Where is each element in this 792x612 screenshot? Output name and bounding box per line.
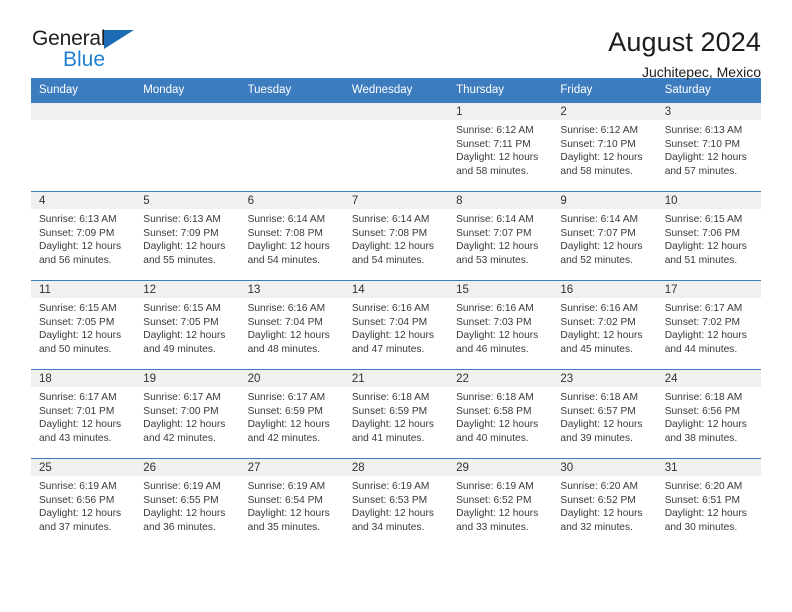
sunset-text: Sunset: 6:59 PM (248, 405, 338, 419)
day-details: Sunrise: 6:14 AMSunset: 7:07 PMDaylight:… (448, 209, 552, 267)
page-header: General Blue August 2024 Juchitepec, Mex… (0, 0, 792, 78)
calendar-day-cell[interactable]: 4Sunrise: 6:13 AMSunset: 7:09 PMDaylight… (31, 192, 135, 281)
day-details: Sunrise: 6:19 AMSunset: 6:54 PMDaylight:… (240, 476, 344, 534)
sunset-text: Sunset: 6:55 PM (143, 494, 233, 508)
calendar-day-cell[interactable]: 3Sunrise: 6:13 AMSunset: 7:10 PMDaylight… (657, 103, 761, 192)
sunrise-text: Sunrise: 6:20 AM (665, 480, 755, 494)
calendar-day-cell[interactable]: 2Sunrise: 6:12 AMSunset: 7:10 PMDaylight… (552, 103, 656, 192)
calendar-day-cell[interactable]: 8Sunrise: 6:14 AMSunset: 7:07 PMDaylight… (448, 192, 552, 281)
sunset-text: Sunset: 7:03 PM (456, 316, 546, 330)
sunrise-text: Sunrise: 6:19 AM (352, 480, 442, 494)
page-title: August 2024 (608, 26, 761, 58)
calendar-empty-cell (240, 103, 344, 192)
daylight-text-line2: and 35 minutes. (248, 521, 338, 535)
daylight-text-line1: Daylight: 12 hours (665, 151, 755, 165)
daylight-text-line1: Daylight: 12 hours (248, 507, 338, 521)
daylight-text-line2: and 43 minutes. (39, 432, 129, 446)
daylight-text-line1: Daylight: 12 hours (456, 240, 546, 254)
day-number: 12 (135, 281, 239, 298)
day-number: 1 (448, 103, 552, 120)
day-details: Sunrise: 6:15 AMSunset: 7:06 PMDaylight:… (657, 209, 761, 267)
daylight-text-line1: Daylight: 12 hours (352, 418, 442, 432)
calendar-day-cell[interactable]: 20Sunrise: 6:17 AMSunset: 6:59 PMDayligh… (240, 370, 344, 459)
calendar-day-cell[interactable]: 5Sunrise: 6:13 AMSunset: 7:09 PMDaylight… (135, 192, 239, 281)
calendar-week-row: 11Sunrise: 6:15 AMSunset: 7:05 PMDayligh… (31, 281, 761, 370)
daylight-text-line1: Daylight: 12 hours (665, 329, 755, 343)
day-number: 23 (552, 370, 656, 387)
calendar-day-cell[interactable]: 6Sunrise: 6:14 AMSunset: 7:08 PMDaylight… (240, 192, 344, 281)
daylight-text-line1: Daylight: 12 hours (665, 418, 755, 432)
calendar-day-cell[interactable]: 26Sunrise: 6:19 AMSunset: 6:55 PMDayligh… (135, 459, 239, 548)
daylight-text-line1: Daylight: 12 hours (248, 240, 338, 254)
calendar-day-cell[interactable]: 21Sunrise: 6:18 AMSunset: 6:59 PMDayligh… (344, 370, 448, 459)
sunrise-text: Sunrise: 6:17 AM (665, 302, 755, 316)
day-details: Sunrise: 6:16 AMSunset: 7:02 PMDaylight:… (552, 298, 656, 356)
day-number: 6 (240, 192, 344, 209)
daylight-text-line2: and 34 minutes. (352, 521, 442, 535)
day-number: 19 (135, 370, 239, 387)
daylight-text-line1: Daylight: 12 hours (456, 151, 546, 165)
daylight-text-line2: and 58 minutes. (456, 165, 546, 179)
sunset-text: Sunset: 7:02 PM (560, 316, 650, 330)
day-details: Sunrise: 6:18 AMSunset: 6:57 PMDaylight:… (552, 387, 656, 445)
day-number: 18 (31, 370, 135, 387)
daylight-text-line2: and 50 minutes. (39, 343, 129, 357)
sunrise-text: Sunrise: 6:18 AM (352, 391, 442, 405)
daylight-text-line2: and 47 minutes. (352, 343, 442, 357)
daylight-text-line2: and 57 minutes. (665, 165, 755, 179)
triangle-icon (104, 30, 134, 49)
sunset-text: Sunset: 7:01 PM (39, 405, 129, 419)
title-block: August 2024 Juchitepec, Mexico (608, 26, 761, 82)
daylight-text-line2: and 42 minutes. (248, 432, 338, 446)
daylight-text-line1: Daylight: 12 hours (456, 329, 546, 343)
day-number: 29 (448, 459, 552, 476)
sunset-text: Sunset: 6:57 PM (560, 405, 650, 419)
sunset-text: Sunset: 6:53 PM (352, 494, 442, 508)
daylight-text-line2: and 30 minutes. (665, 521, 755, 535)
day-details: Sunrise: 6:20 AMSunset: 6:52 PMDaylight:… (552, 476, 656, 534)
daylight-text-line2: and 54 minutes. (248, 254, 338, 268)
daylight-text-line1: Daylight: 12 hours (39, 507, 129, 521)
daylight-text-line1: Daylight: 12 hours (143, 329, 233, 343)
sunrise-text: Sunrise: 6:16 AM (456, 302, 546, 316)
day-details: Sunrise: 6:13 AMSunset: 7:09 PMDaylight:… (31, 209, 135, 267)
calendar-day-cell[interactable]: 27Sunrise: 6:19 AMSunset: 6:54 PMDayligh… (240, 459, 344, 548)
brand-name-blue: Blue (63, 49, 105, 70)
sunrise-text: Sunrise: 6:18 AM (665, 391, 755, 405)
sunset-text: Sunset: 6:58 PM (456, 405, 546, 419)
day-number: 30 (552, 459, 656, 476)
calendar-day-cell[interactable]: 10Sunrise: 6:15 AMSunset: 7:06 PMDayligh… (657, 192, 761, 281)
day-details: Sunrise: 6:20 AMSunset: 6:51 PMDaylight:… (657, 476, 761, 534)
day-number: 8 (448, 192, 552, 209)
sunrise-text: Sunrise: 6:13 AM (143, 213, 233, 227)
calendar-empty-cell (135, 103, 239, 192)
sunrise-text: Sunrise: 6:18 AM (456, 391, 546, 405)
sunrise-text: Sunrise: 6:16 AM (248, 302, 338, 316)
sunset-text: Sunset: 6:52 PM (456, 494, 546, 508)
sunrise-text: Sunrise: 6:12 AM (560, 124, 650, 138)
sunset-text: Sunset: 6:52 PM (560, 494, 650, 508)
sunset-text: Sunset: 7:07 PM (456, 227, 546, 241)
sunrise-text: Sunrise: 6:15 AM (665, 213, 755, 227)
sunset-text: Sunset: 7:09 PM (143, 227, 233, 241)
daylight-text-line2: and 55 minutes. (143, 254, 233, 268)
day-details: Sunrise: 6:13 AMSunset: 7:10 PMDaylight:… (657, 120, 761, 178)
calendar-day-cell[interactable]: 11Sunrise: 6:15 AMSunset: 7:05 PMDayligh… (31, 281, 135, 370)
daylight-text-line1: Daylight: 12 hours (352, 329, 442, 343)
sunset-text: Sunset: 7:05 PM (143, 316, 233, 330)
sunrise-text: Sunrise: 6:13 AM (39, 213, 129, 227)
day-number: 14 (344, 281, 448, 298)
daylight-text-line2: and 37 minutes. (39, 521, 129, 535)
sunrise-text: Sunrise: 6:14 AM (456, 213, 546, 227)
daylight-text-line2: and 56 minutes. (39, 254, 129, 268)
sunset-text: Sunset: 7:09 PM (39, 227, 129, 241)
weekday-header-thursday: Thursday (448, 78, 552, 103)
brand-name-general: General (32, 28, 105, 49)
daylight-text-line1: Daylight: 12 hours (39, 418, 129, 432)
sunset-text: Sunset: 6:56 PM (39, 494, 129, 508)
day-number: 7 (344, 192, 448, 209)
day-number: 2 (552, 103, 656, 120)
daylight-text-line2: and 45 minutes. (560, 343, 650, 357)
calendar-empty-cell (31, 103, 135, 192)
day-number: 27 (240, 459, 344, 476)
daylight-text-line2: and 54 minutes. (352, 254, 442, 268)
sunset-text: Sunset: 7:10 PM (665, 138, 755, 152)
sunrise-text: Sunrise: 6:16 AM (560, 302, 650, 316)
daylight-text-line2: and 38 minutes. (665, 432, 755, 446)
sunrise-text: Sunrise: 6:15 AM (143, 302, 233, 316)
day-number: 17 (657, 281, 761, 298)
calendar-day-cell[interactable]: 14Sunrise: 6:16 AMSunset: 7:04 PMDayligh… (344, 281, 448, 370)
brand-logo[interactable]: General Blue (31, 26, 151, 74)
sunrise-text: Sunrise: 6:18 AM (560, 391, 650, 405)
day-number: 5 (135, 192, 239, 209)
sunset-text: Sunset: 6:51 PM (665, 494, 755, 508)
daylight-text-line1: Daylight: 12 hours (560, 507, 650, 521)
sunrise-text: Sunrise: 6:14 AM (560, 213, 650, 227)
sunrise-text: Sunrise: 6:19 AM (39, 480, 129, 494)
sunrise-text: Sunrise: 6:14 AM (248, 213, 338, 227)
daylight-text-line2: and 49 minutes. (143, 343, 233, 357)
day-number: 25 (31, 459, 135, 476)
day-details: Sunrise: 6:13 AMSunset: 7:09 PMDaylight:… (135, 209, 239, 267)
sunset-text: Sunset: 7:08 PM (352, 227, 442, 241)
daylight-text-line2: and 48 minutes. (248, 343, 338, 357)
daylight-text-line1: Daylight: 12 hours (352, 507, 442, 521)
daylight-text-line2: and 52 minutes. (560, 254, 650, 268)
calendar-day-cell[interactable]: 16Sunrise: 6:16 AMSunset: 7:02 PMDayligh… (552, 281, 656, 370)
sunrise-text: Sunrise: 6:17 AM (143, 391, 233, 405)
calendar-week-row: 18Sunrise: 6:17 AMSunset: 7:01 PMDayligh… (31, 370, 761, 459)
calendar-day-cell[interactable]: 18Sunrise: 6:17 AMSunset: 7:01 PMDayligh… (31, 370, 135, 459)
sunset-text: Sunset: 7:04 PM (352, 316, 442, 330)
day-number: 16 (552, 281, 656, 298)
daylight-text-line2: and 42 minutes. (143, 432, 233, 446)
day-details: Sunrise: 6:18 AMSunset: 6:56 PMDaylight:… (657, 387, 761, 445)
daylight-text-line2: and 41 minutes. (352, 432, 442, 446)
sunset-text: Sunset: 6:54 PM (248, 494, 338, 508)
sunset-text: Sunset: 7:04 PM (248, 316, 338, 330)
day-details: Sunrise: 6:12 AMSunset: 7:10 PMDaylight:… (552, 120, 656, 178)
day-number: 4 (31, 192, 135, 209)
daylight-text-line1: Daylight: 12 hours (248, 329, 338, 343)
calendar-week-row: 1Sunrise: 6:12 AMSunset: 7:11 PMDaylight… (31, 103, 761, 192)
day-number: 15 (448, 281, 552, 298)
calendar-day-cell[interactable]: 15Sunrise: 6:16 AMSunset: 7:03 PMDayligh… (448, 281, 552, 370)
sunrise-text: Sunrise: 6:13 AM (665, 124, 755, 138)
sunset-text: Sunset: 7:06 PM (665, 227, 755, 241)
calendar-empty-cell (344, 103, 448, 192)
calendar-day-cell[interactable]: 23Sunrise: 6:18 AMSunset: 6:57 PMDayligh… (552, 370, 656, 459)
daylight-text-line1: Daylight: 12 hours (39, 240, 129, 254)
calendar-week-row: 25Sunrise: 6:19 AMSunset: 6:56 PMDayligh… (31, 459, 761, 548)
calendar-day-cell[interactable]: 1Sunrise: 6:12 AMSunset: 7:11 PMDaylight… (448, 103, 552, 192)
daylight-text-line2: and 53 minutes. (456, 254, 546, 268)
daylight-text-line2: and 46 minutes. (456, 343, 546, 357)
sunrise-text: Sunrise: 6:15 AM (39, 302, 129, 316)
daylight-text-line2: and 33 minutes. (456, 521, 546, 535)
daylight-text-line1: Daylight: 12 hours (560, 329, 650, 343)
calendar-day-cell[interactable]: 12Sunrise: 6:15 AMSunset: 7:05 PMDayligh… (135, 281, 239, 370)
day-details: Sunrise: 6:12 AMSunset: 7:11 PMDaylight:… (448, 120, 552, 178)
weekday-header-wednesday: Wednesday (344, 78, 448, 103)
daylight-text-line1: Daylight: 12 hours (352, 240, 442, 254)
sunrise-text: Sunrise: 6:19 AM (248, 480, 338, 494)
day-details: Sunrise: 6:14 AMSunset: 7:07 PMDaylight:… (552, 209, 656, 267)
day-number (344, 103, 448, 120)
day-number (135, 103, 239, 120)
day-details: Sunrise: 6:18 AMSunset: 6:58 PMDaylight:… (448, 387, 552, 445)
day-details: Sunrise: 6:19 AMSunset: 6:56 PMDaylight:… (31, 476, 135, 534)
daylight-text-line1: Daylight: 12 hours (665, 240, 755, 254)
sunset-text: Sunset: 7:10 PM (560, 138, 650, 152)
daylight-text-line1: Daylight: 12 hours (560, 240, 650, 254)
weekday-header-monday: Monday (135, 78, 239, 103)
day-details: Sunrise: 6:17 AMSunset: 6:59 PMDaylight:… (240, 387, 344, 445)
daylight-text-line1: Daylight: 12 hours (456, 507, 546, 521)
sunrise-text: Sunrise: 6:20 AM (560, 480, 650, 494)
daylight-text-line2: and 44 minutes. (665, 343, 755, 357)
sunrise-text: Sunrise: 6:19 AM (143, 480, 233, 494)
daylight-text-line2: and 36 minutes. (143, 521, 233, 535)
day-details: Sunrise: 6:16 AMSunset: 7:04 PMDaylight:… (344, 298, 448, 356)
daylight-text-line2: and 40 minutes. (456, 432, 546, 446)
day-details: Sunrise: 6:19 AMSunset: 6:55 PMDaylight:… (135, 476, 239, 534)
daylight-text-line1: Daylight: 12 hours (560, 151, 650, 165)
sunrise-text: Sunrise: 6:17 AM (248, 391, 338, 405)
calendar-day-cell[interactable]: 30Sunrise: 6:20 AMSunset: 6:52 PMDayligh… (552, 459, 656, 548)
day-details: Sunrise: 6:14 AMSunset: 7:08 PMDaylight:… (344, 209, 448, 267)
sunset-text: Sunset: 7:00 PM (143, 405, 233, 419)
day-number: 31 (657, 459, 761, 476)
sunrise-text: Sunrise: 6:14 AM (352, 213, 442, 227)
day-number: 3 (657, 103, 761, 120)
day-number: 26 (135, 459, 239, 476)
weekday-header-tuesday: Tuesday (240, 78, 344, 103)
day-details: Sunrise: 6:17 AMSunset: 7:02 PMDaylight:… (657, 298, 761, 356)
day-number (240, 103, 344, 120)
day-details: Sunrise: 6:16 AMSunset: 7:04 PMDaylight:… (240, 298, 344, 356)
calendar-day-cell[interactable]: 7Sunrise: 6:14 AMSunset: 7:08 PMDaylight… (344, 192, 448, 281)
daylight-text-line2: and 39 minutes. (560, 432, 650, 446)
daylight-text-line1: Daylight: 12 hours (456, 418, 546, 432)
day-number: 21 (344, 370, 448, 387)
weekday-header-sunday: Sunday (31, 78, 135, 103)
sunrise-text: Sunrise: 6:17 AM (39, 391, 129, 405)
day-number: 24 (657, 370, 761, 387)
calendar-day-cell[interactable]: 13Sunrise: 6:16 AMSunset: 7:04 PMDayligh… (240, 281, 344, 370)
daylight-text-line2: and 51 minutes. (665, 254, 755, 268)
day-number: 20 (240, 370, 344, 387)
sunset-text: Sunset: 7:05 PM (39, 316, 129, 330)
calendar-body: 1Sunrise: 6:12 AMSunset: 7:11 PMDaylight… (31, 103, 761, 548)
location-subtitle: Juchitepec, Mexico (608, 62, 761, 82)
sunrise-text: Sunrise: 6:12 AM (456, 124, 546, 138)
calendar-day-cell[interactable]: 22Sunrise: 6:18 AMSunset: 6:58 PMDayligh… (448, 370, 552, 459)
calendar-day-cell[interactable]: 24Sunrise: 6:18 AMSunset: 6:56 PMDayligh… (657, 370, 761, 459)
daylight-text-line1: Daylight: 12 hours (39, 329, 129, 343)
day-details: Sunrise: 6:17 AMSunset: 7:01 PMDaylight:… (31, 387, 135, 445)
calendar-day-cell[interactable]: 29Sunrise: 6:19 AMSunset: 6:52 PMDayligh… (448, 459, 552, 548)
sunset-text: Sunset: 7:07 PM (560, 227, 650, 241)
day-details: Sunrise: 6:15 AMSunset: 7:05 PMDaylight:… (135, 298, 239, 356)
calendar-week-row: 4Sunrise: 6:13 AMSunset: 7:09 PMDaylight… (31, 192, 761, 281)
calendar-day-cell[interactable]: 31Sunrise: 6:20 AMSunset: 6:51 PMDayligh… (657, 459, 761, 548)
day-number: 22 (448, 370, 552, 387)
daylight-text-line1: Daylight: 12 hours (248, 418, 338, 432)
day-details: Sunrise: 6:16 AMSunset: 7:03 PMDaylight:… (448, 298, 552, 356)
day-details: Sunrise: 6:19 AMSunset: 6:53 PMDaylight:… (344, 476, 448, 534)
daylight-text-line1: Daylight: 12 hours (560, 418, 650, 432)
day-number (31, 103, 135, 120)
daylight-text-line1: Daylight: 12 hours (143, 240, 233, 254)
daylight-text-line1: Daylight: 12 hours (143, 418, 233, 432)
calendar-day-cell[interactable]: 17Sunrise: 6:17 AMSunset: 7:02 PMDayligh… (657, 281, 761, 370)
calendar-day-cell[interactable]: 19Sunrise: 6:17 AMSunset: 7:00 PMDayligh… (135, 370, 239, 459)
sunset-text: Sunset: 6:59 PM (352, 405, 442, 419)
calendar-day-cell[interactable]: 28Sunrise: 6:19 AMSunset: 6:53 PMDayligh… (344, 459, 448, 548)
daylight-text-line2: and 58 minutes. (560, 165, 650, 179)
sunset-text: Sunset: 6:56 PM (665, 405, 755, 419)
daylight-text-line1: Daylight: 12 hours (665, 507, 755, 521)
day-number: 9 (552, 192, 656, 209)
day-number: 10 (657, 192, 761, 209)
day-number: 28 (344, 459, 448, 476)
day-details: Sunrise: 6:17 AMSunset: 7:00 PMDaylight:… (135, 387, 239, 445)
daylight-text-line1: Daylight: 12 hours (143, 507, 233, 521)
day-details: Sunrise: 6:18 AMSunset: 6:59 PMDaylight:… (344, 387, 448, 445)
calendar-table: Sunday Monday Tuesday Wednesday Thursday… (31, 78, 761, 548)
sunrise-text: Sunrise: 6:16 AM (352, 302, 442, 316)
sunset-text: Sunset: 7:08 PM (248, 227, 338, 241)
day-details: Sunrise: 6:19 AMSunset: 6:52 PMDaylight:… (448, 476, 552, 534)
sunset-text: Sunset: 7:02 PM (665, 316, 755, 330)
sunset-text: Sunset: 7:11 PM (456, 138, 546, 152)
day-details: Sunrise: 6:14 AMSunset: 7:08 PMDaylight:… (240, 209, 344, 267)
calendar-day-cell[interactable]: 9Sunrise: 6:14 AMSunset: 7:07 PMDaylight… (552, 192, 656, 281)
calendar-day-cell[interactable]: 25Sunrise: 6:19 AMSunset: 6:56 PMDayligh… (31, 459, 135, 548)
daylight-text-line2: and 32 minutes. (560, 521, 650, 535)
calendar-page: General Blue August 2024 Juchitepec, Mex… (0, 0, 792, 612)
day-number: 13 (240, 281, 344, 298)
sunrise-text: Sunrise: 6:19 AM (456, 480, 546, 494)
day-details: Sunrise: 6:15 AMSunset: 7:05 PMDaylight:… (31, 298, 135, 356)
day-number: 11 (31, 281, 135, 298)
